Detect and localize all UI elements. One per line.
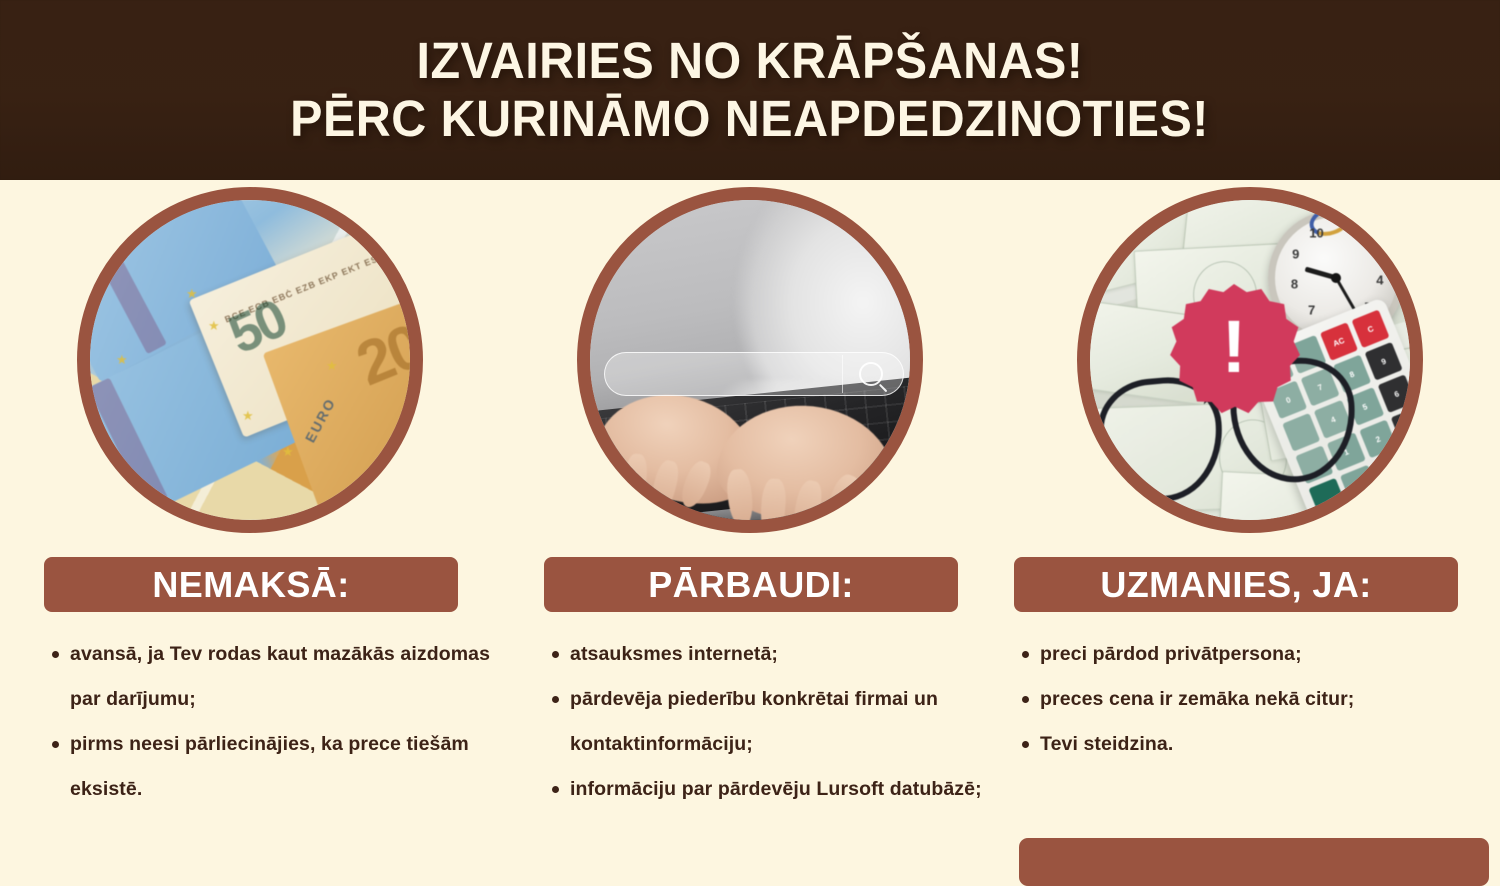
column-header-label: PĀRBAUDI:: [648, 567, 854, 603]
eu-star-6: ★: [326, 358, 338, 374]
finger: [790, 478, 825, 533]
search-divider: [842, 355, 843, 393]
finger: [822, 471, 863, 526]
header-banner: IZVAIRIES NO KRĀPŠANAS! PĒRC KURINĀMO NE…: [0, 0, 1500, 180]
clock-center-pin: [1331, 273, 1341, 283]
headline-line-2: PĒRC KURINĀMO NEAPDEDZINOTIES!: [291, 92, 1210, 146]
bullet-list-uzmanies: preci pārdod privātpersona; preces cena …: [1014, 632, 1490, 767]
money-warning-circle: 10 9 8 7 6 5 4 AC: [1077, 187, 1423, 533]
finger: [677, 458, 715, 511]
headline-line-1: IZVAIRIES NO KRĀPŠANAS!: [417, 34, 1084, 88]
column-header-parbaudi: PĀRBAUDI:: [544, 557, 958, 612]
bottom-brown-bar: [1019, 838, 1489, 886]
column-nemaksa: BCE ECB EBĊ EZB EKP EKT ESB EKB 50 20 EU…: [0, 180, 500, 860]
list-item: pirms neesi pārliecinājies, ka prece tie…: [70, 722, 512, 812]
laptop-typing-circle: [577, 187, 923, 533]
calc-key-9: 9: [1364, 342, 1402, 381]
eu-star-4: ★: [242, 408, 254, 424]
banner-title-block: IZVAIRIES NO KRĀPŠANAS! PĒRC KURINĀMO NE…: [0, 0, 1500, 180]
eu-star-2: ★: [208, 318, 220, 334]
clock-hour-9: 9: [1292, 246, 1299, 261]
bullet-list-nemaksa: avansā, ja Tev rodas kaut mazākās aizdom…: [44, 632, 512, 811]
warning-badge: !: [1168, 284, 1300, 416]
hands-typing-laptop-photo: [590, 200, 910, 520]
circle-image-wrap-2: [577, 187, 923, 533]
calc-key-3: 3: [1391, 407, 1423, 446]
column-header-label: NEMAKSĀ:: [152, 567, 349, 603]
search-icon[interactable]: [859, 362, 883, 386]
column-header-uzmanies: UZMANIES, JA:: [1014, 557, 1458, 612]
column-header-label: UZMANIES, JA:: [1100, 567, 1371, 603]
euro-banknotes-circle: BCE ECB EBĊ EZB EKP EKT ESB EKB 50 20 EU…: [77, 187, 423, 533]
search-bar-overlay[interactable]: [604, 352, 904, 396]
list-item: Tevi steidzina.: [1040, 722, 1490, 767]
list-item: informāciju par pārdevēju Lursoft datubā…: [570, 767, 1000, 812]
calc-key-equals: =: [1372, 452, 1410, 491]
clock-hour-7: 7: [1308, 302, 1315, 317]
column-uzmanies: 10 9 8 7 6 5 4 AC: [1000, 180, 1500, 860]
column-parbaudi: PĀRBAUDI: atsauksmes internetā; pārdevēj…: [500, 180, 1000, 860]
eu-star-3: ★: [116, 352, 128, 368]
column-header-nemaksa: NEMAKSĀ:: [44, 557, 458, 612]
list-item: pārdevēja piederību konkrētai firmai un …: [570, 677, 1000, 767]
calc-key-6: 6: [1377, 374, 1415, 413]
list-item: atsauksmes internetā;: [570, 632, 1000, 677]
list-item: avansā, ja Tev rodas kaut mazākās aizdom…: [70, 632, 512, 722]
eu-star-1: ★: [186, 286, 198, 302]
circle-image-wrap-3: 10 9 8 7 6 5 4 AC: [1077, 187, 1423, 533]
bullet-list-parbaudi: atsauksmes internetā; pārdevēja piederīb…: [544, 632, 1000, 811]
euro-banknotes-photo: BCE ECB EBĊ EZB EKP EKT ESB EKB 50 20 EU…: [90, 200, 410, 520]
clock-hour-10: 10: [1309, 225, 1323, 240]
content-columns: BCE ECB EBĊ EZB EKP EKT ESB EKB 50 20 EU…: [0, 180, 1500, 860]
exclamation-icon: !: [1222, 310, 1247, 384]
eu-star-5: ★: [282, 444, 294, 460]
circle-image-wrap-1: BCE ECB EBĊ EZB EKP EKT ESB EKB 50 20 EU…: [77, 187, 423, 533]
finger: [759, 478, 787, 533]
clock-hour-4: 4: [1376, 273, 1383, 288]
dollars-clock-calculator-photo: 10 9 8 7 6 5 4 AC: [1090, 200, 1410, 520]
list-item: preci pārdod privātpersona;: [1040, 632, 1490, 677]
list-item: preces cena ir zemāka nekā citur;: [1040, 677, 1490, 722]
